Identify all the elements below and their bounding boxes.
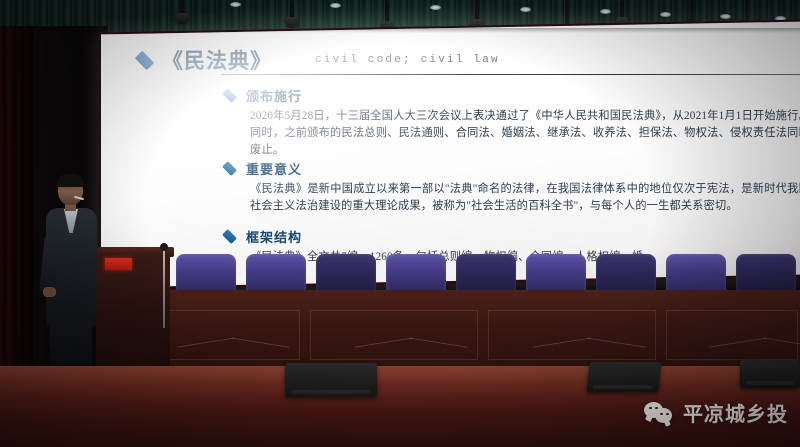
stage-light [385,0,389,22]
stage-monitor-speaker [586,362,661,392]
conference-table [104,290,800,376]
stage-light [565,0,569,25]
wechat-bubble-small [655,408,672,423]
diamond-bullet-icon [222,161,237,176]
light-spot [720,14,731,19]
watermark-label: 平凉城乡投 [683,398,788,427]
light-spot [520,7,531,12]
section-heading-row: 重要意义 [223,159,800,178]
section-body: 2020年5月28日，十三届全国人大三次会议上表决通过了《中华人民共和国民法典》… [250,108,800,159]
wechat-watermark: 平凉城乡投 [644,398,788,427]
podium-nameplate [105,258,132,270]
auditorium-photo: 《民法典》 civil code; civil law 颁布施行 2020年5月… [0,0,800,447]
light-spot [430,5,441,10]
stage-curtain-left [0,26,34,406]
stage-light [745,0,749,22]
stage-light [620,0,624,18]
section-body: 《民法典》是新中国成立以来第一部以"法典"命名的法律，在我国法律体系中的地位仅次… [250,181,800,215]
speaker-person [44,175,100,380]
slide-section-1: 颁布施行 2020年5月28日，十三届全国人大三次会议上表决通过了《中华人民共和… [223,86,800,159]
title-divider [221,74,800,75]
section-heading-row: 框架结构 [223,227,800,246]
stage-monitor-speaker [740,360,800,388]
section-heading: 重要意义 [246,159,302,178]
section-heading-row: 颁布施行 [223,86,800,105]
wechat-icon [644,402,676,424]
section-heading: 颁布施行 [246,86,302,105]
podium [96,253,170,375]
light-spot [660,12,671,17]
wechat-eye [660,413,663,416]
projection-screen: 《民法典》 civil code; civil law 颁布施行 2020年5月… [101,22,800,288]
wechat-eye [649,407,652,410]
section-heading: 框架结构 [246,227,302,246]
diamond-bullet-icon [222,88,237,103]
diamond-bullet-icon [222,229,237,244]
stage-monitor-speaker [285,363,377,397]
microphone-stand [163,248,165,328]
stage-light [475,0,479,20]
slide-section-2: 重要意义 《民法典》是新中国成立以来第一部以"法典"命名的法律，在我国法律体系中… [223,159,800,215]
stage-light [180,0,184,14]
speaker-hair [57,174,84,187]
light-spot [330,3,341,8]
page-title: 《民法典》 [162,45,272,75]
microphone-icon [160,243,168,251]
stage-light [290,0,294,18]
light-spot [600,9,611,14]
wechat-eye [666,413,669,416]
slide-subtitle: civil code; civil law [315,54,500,66]
diamond-bullet-icon [135,50,154,69]
slide-title-row: 《民法典》 civil code; civil law [136,45,500,75]
light-spot [230,2,241,7]
speaker-hand [43,287,56,297]
